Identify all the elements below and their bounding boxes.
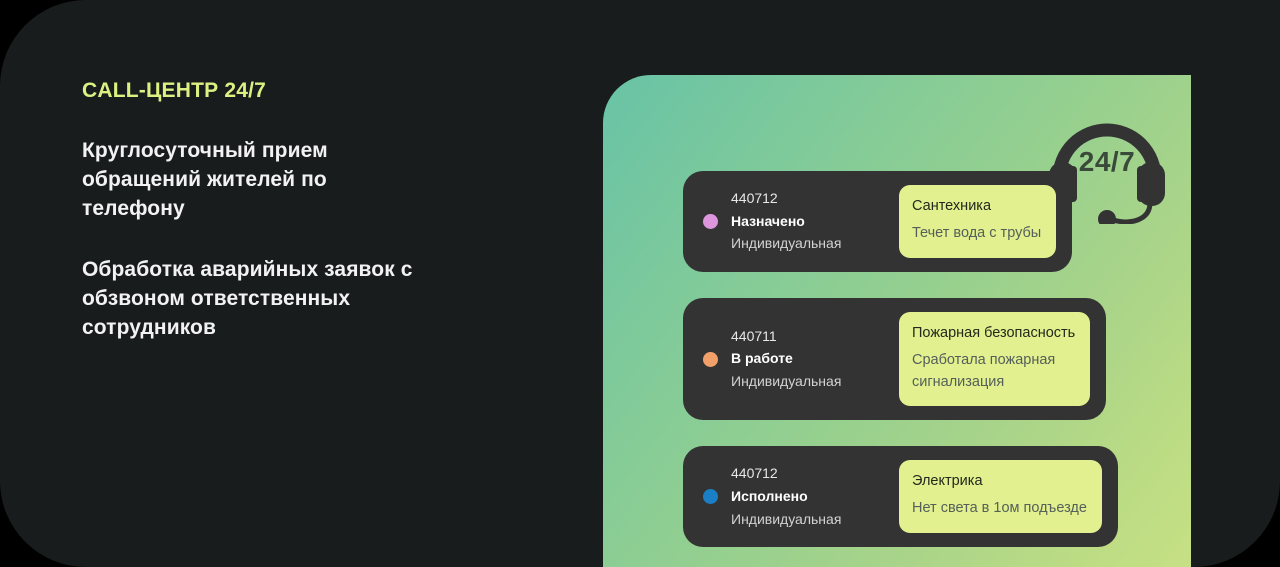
ticket-row[interactable]: 440712 Назначено Индивидуальная Сантехни…: [683, 171, 1072, 272]
slide-root: CALL-ЦЕНТР 24/7 Круглосуточный прием обр…: [0, 0, 1280, 567]
ticket-category: Сантехника: [912, 196, 1041, 217]
ticket-category-card[interactable]: Электрика Нет света в 1ом подъезде: [899, 460, 1102, 533]
illustration-panel: 24/7 440712 Назначено Индивидуальная: [603, 75, 1191, 567]
ticket-id: 440711: [731, 326, 841, 348]
ticket-description: Сработала пожарная сигнализация: [912, 350, 1062, 394]
status-badge: Назначено: [731, 210, 841, 232]
status-dot-icon: [703, 489, 718, 504]
description-paragraph-1: Круглосуточный прием обращений жителей п…: [82, 137, 382, 224]
page-title: CALL-ЦЕНТР 24/7: [82, 78, 552, 103]
description-paragraph-2: Обработка аварийных заявок с обзвоном от…: [82, 256, 442, 343]
ticket-category: Пожарная безопасность: [912, 323, 1075, 344]
ticket-list: 440712 Назначено Индивидуальная Сантехни…: [683, 171, 1163, 567]
ticket-meta: 440712 Исполнено Индивидуальная: [731, 463, 841, 529]
ticket-id: 440712: [731, 463, 841, 485]
ticket-type: Индивидуальная: [731, 508, 841, 530]
dark-panel: CALL-ЦЕНТР 24/7 Круглосуточный прием обр…: [0, 0, 1280, 567]
status-badge: Исполнено: [731, 485, 841, 507]
ticket-summary: 440711 В работе Индивидуальная: [703, 326, 899, 392]
ticket-type: Индивидуальная: [731, 370, 841, 392]
ticket-row[interactable]: 440712 Исполнено Индивидуальная Электрик…: [683, 446, 1118, 547]
status-dot-icon: [703, 214, 718, 229]
ticket-category-card[interactable]: Сантехника Течет вода с трубы: [899, 185, 1056, 258]
ticket-type: Индивидуальная: [731, 232, 841, 254]
status-dot-icon: [703, 352, 718, 367]
ticket-summary: 440712 Исполнено Индивидуальная: [703, 463, 899, 529]
ticket-category-card[interactable]: Пожарная безопасность Сработала пожарная…: [899, 312, 1090, 407]
left-text-column: CALL-ЦЕНТР 24/7 Круглосуточный прием обр…: [82, 78, 552, 343]
ticket-row[interactable]: 440711 В работе Индивидуальная Пожарная …: [683, 298, 1106, 421]
ticket-category: Электрика: [912, 471, 1087, 492]
status-badge: В работе: [731, 347, 841, 369]
ticket-id: 440712: [731, 188, 841, 210]
ticket-meta: 440712 Назначено Индивидуальная: [731, 188, 841, 254]
ticket-meta: 440711 В работе Индивидуальная: [731, 326, 841, 392]
ticket-description: Нет света в 1ом подъезде: [912, 498, 1087, 520]
ticket-description: Течет вода с трубы: [912, 223, 1041, 245]
ticket-summary: 440712 Назначено Индивидуальная: [703, 188, 899, 254]
